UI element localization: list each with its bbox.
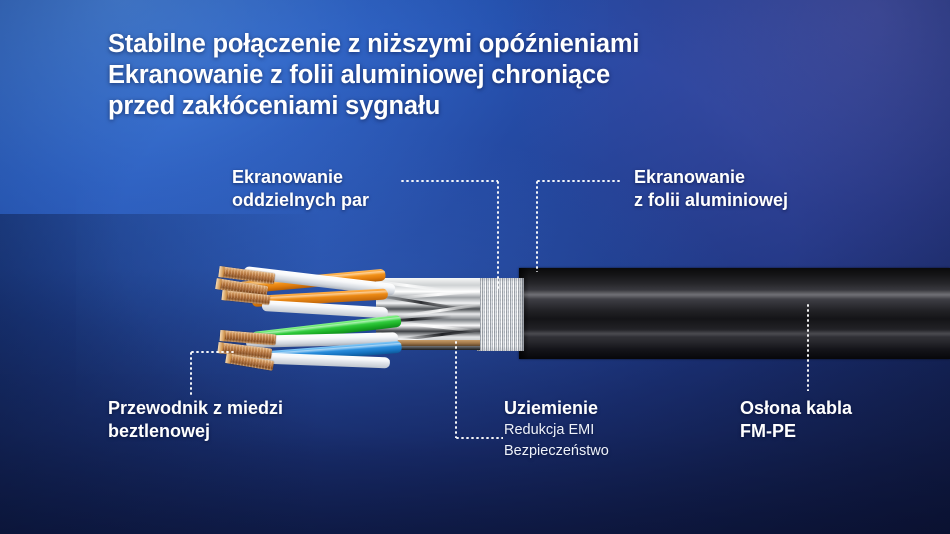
callout-grounding-sub-1: Redukcja EMI — [504, 420, 609, 441]
leader-line-foil-shield-horizontal — [536, 180, 620, 182]
callout-cable-jacket: Osłona kabla FM-PE — [740, 397, 852, 443]
leader-line-ground-vertical — [455, 340, 457, 438]
callout-grounding: Uziemienie Redukcja EMI Bezpieczeństwo — [504, 397, 609, 462]
leader-line-jacket-vertical — [807, 303, 809, 391]
leader-line-pair-shield-horizontal — [400, 180, 498, 182]
callout-grounding-title: Uziemienie — [504, 397, 609, 420]
callout-pair-shielding-line-1: Ekranowanie — [232, 166, 369, 189]
cable-outer-jacket — [519, 268, 950, 359]
wire-gloss — [262, 302, 388, 312]
conductor-tip — [225, 353, 232, 364]
wire-pair1-white-back — [262, 300, 388, 318]
leader-line-copper-horizontal — [190, 351, 234, 353]
conductor-tip — [221, 290, 227, 300]
leader-line-ground-horizontal — [455, 437, 503, 439]
callout-grounding-sub-2: Bezpieczeństwo — [504, 441, 609, 462]
cable-illustration — [0, 0, 950, 534]
callout-copper-conductor-line-1: Przewodnik z miedzi — [108, 397, 283, 420]
callout-copper-conductor-line-2: beztlenowej — [108, 420, 283, 443]
callout-copper-conductor: Przewodnik z miedzi beztlenowej — [108, 397, 283, 443]
jacket-highlight-lower — [519, 330, 950, 337]
callout-pair-shielding-line-2: oddzielnych par — [232, 189, 369, 212]
jacket-highlight-upper — [519, 290, 950, 299]
conductor-tip — [215, 278, 222, 290]
leader-line-pair-shield-vertical — [497, 180, 499, 290]
leader-line-copper-vertical — [190, 351, 192, 395]
callout-cable-jacket-line-1: Osłona kabla — [740, 397, 852, 420]
leader-line-foil-shield-vertical — [536, 180, 538, 272]
callout-foil-shielding: Ekranowanie z folii aluminiowej — [634, 166, 788, 212]
wire-gloss — [252, 290, 388, 300]
braid-shadow-right — [519, 278, 524, 351]
conductor-tip — [218, 266, 224, 278]
braid-ground-shield — [477, 278, 524, 351]
conductor-tip — [220, 330, 226, 341]
callout-cable-jacket-line-2: FM-PE — [740, 420, 852, 443]
callout-foil-shielding-line-1: Ekranowanie — [634, 166, 788, 189]
callout-pair-shielding: Ekranowanie oddzielnych par — [232, 166, 369, 212]
callout-foil-shielding-line-2: z folii aluminiowej — [634, 189, 788, 212]
